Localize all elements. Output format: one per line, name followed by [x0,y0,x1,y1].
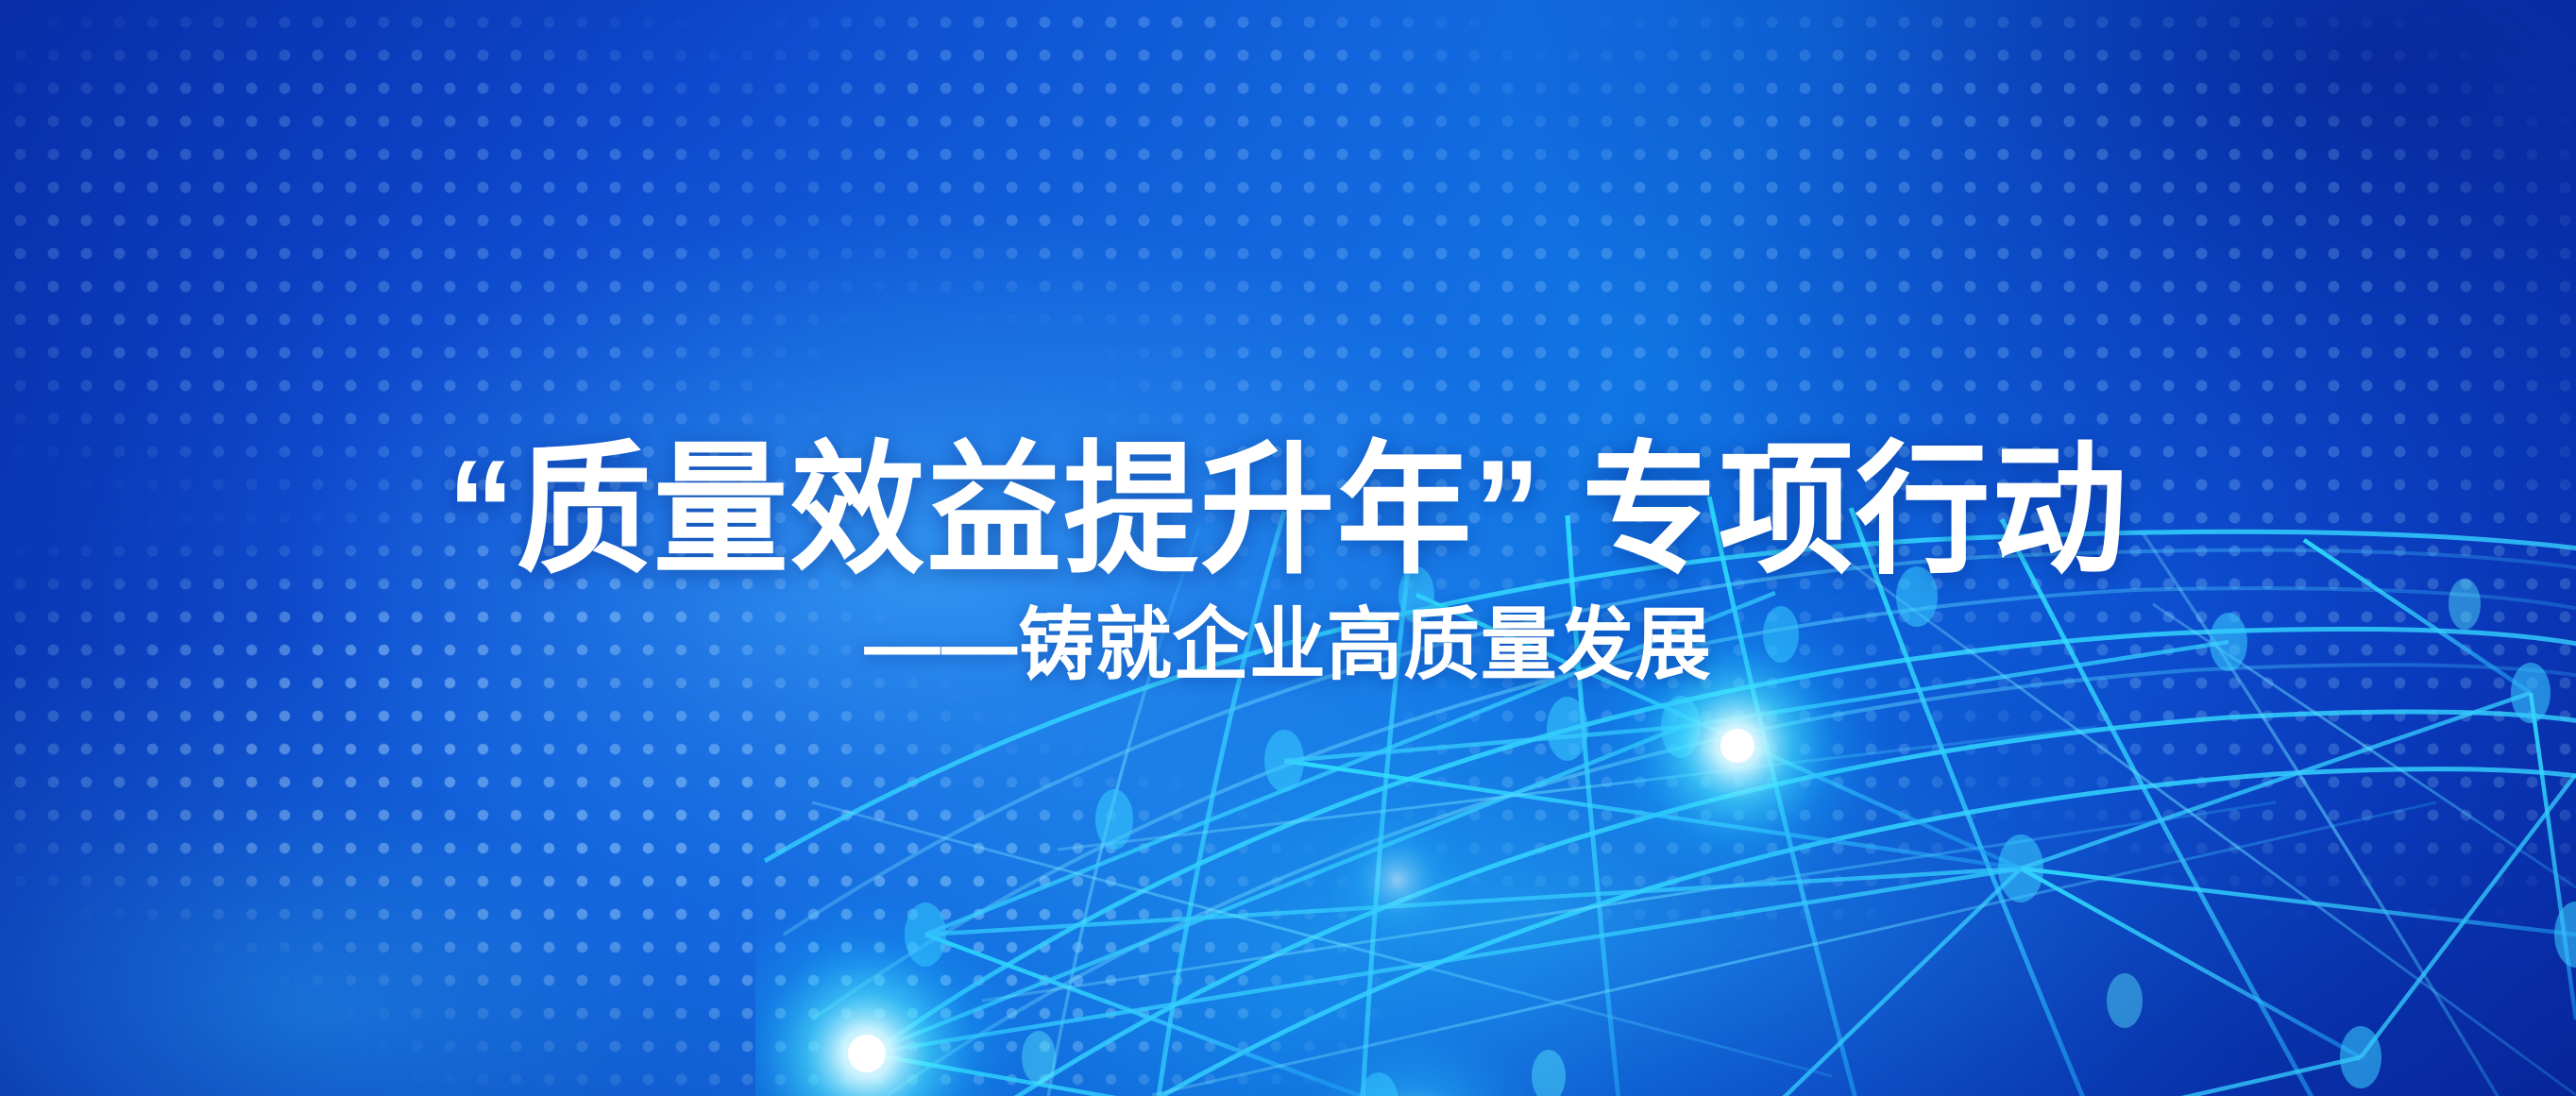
headline-block: “质量效益提升年” 专项行动 ——铸就企业高质量发展 [0,436,2576,688]
page-title: “质量效益提升年” 专项行动 [77,436,2499,585]
promotional-banner: “质量效益提升年” 专项行动 ——铸就企业高质量发展 [0,0,2576,1096]
page-subtitle: ——铸就企业高质量发展 [52,602,2525,688]
